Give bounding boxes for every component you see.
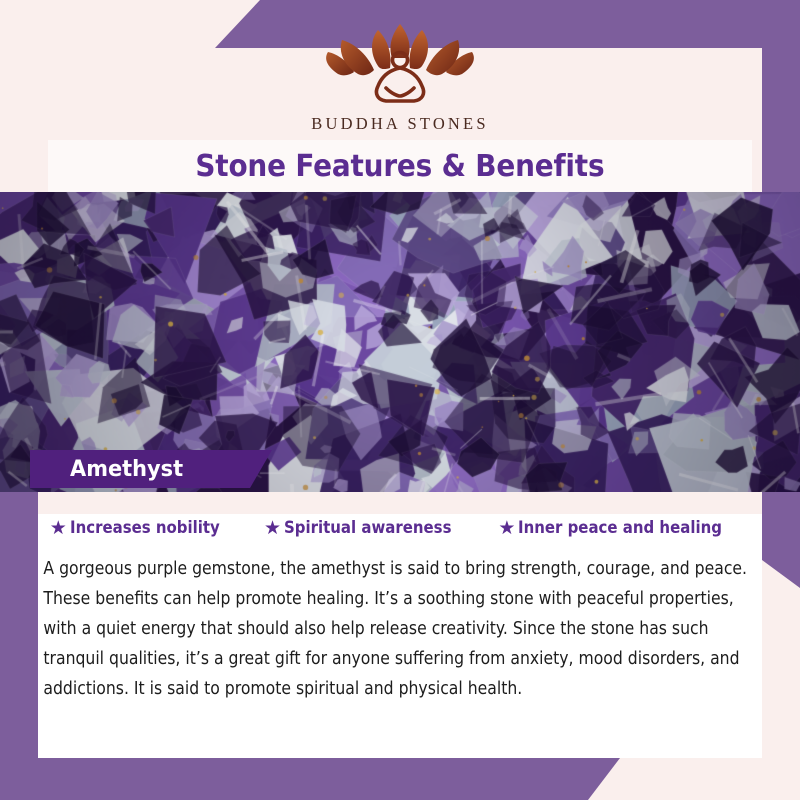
lotus-meditation-icon <box>310 18 490 110</box>
feature-label: Spiritual awareness <box>284 518 452 538</box>
star-icon: ★ <box>264 519 281 538</box>
feature-item-1: ★ Spiritual awareness <box>264 518 474 538</box>
content-panel: ★ Increases nobility ★ Spiritual awarene… <box>38 492 762 758</box>
frame-band-left <box>0 492 38 800</box>
stone-description: A gorgeous purple gemstone, the amethyst… <box>38 554 762 704</box>
star-icon: ★ <box>50 519 67 538</box>
amethyst-crystal-canvas <box>0 192 800 492</box>
stone-name-badge: Amethyst <box>30 450 272 488</box>
feature-label: Increases nobility <box>70 518 220 538</box>
page-title: Stone Features & Benefits <box>196 149 605 184</box>
feature-list: ★ Increases nobility ★ Spiritual awarene… <box>38 518 762 538</box>
product-info-card: BUDDHA STONES Stone Features & Benefits … <box>0 0 800 800</box>
card-header: BUDDHA STONES Stone Features & Benefits <box>0 0 800 192</box>
frame-band-bottom <box>0 758 620 800</box>
brand-logo: BUDDHA STONES <box>0 18 800 134</box>
brand-wordmark: BUDDHA STONES <box>0 114 800 134</box>
stone-hero-image <box>0 192 800 492</box>
feature-item-0: ★ Increases nobility <box>50 518 240 538</box>
stone-name-label: Amethyst <box>34 457 183 482</box>
title-strip: Stone Features & Benefits <box>48 140 752 192</box>
feature-item-2: ★ Inner peace and healing <box>498 518 750 538</box>
feature-label: Inner peace and healing <box>518 518 722 538</box>
star-icon: ★ <box>498 519 515 538</box>
panel-top-fade <box>38 492 762 514</box>
